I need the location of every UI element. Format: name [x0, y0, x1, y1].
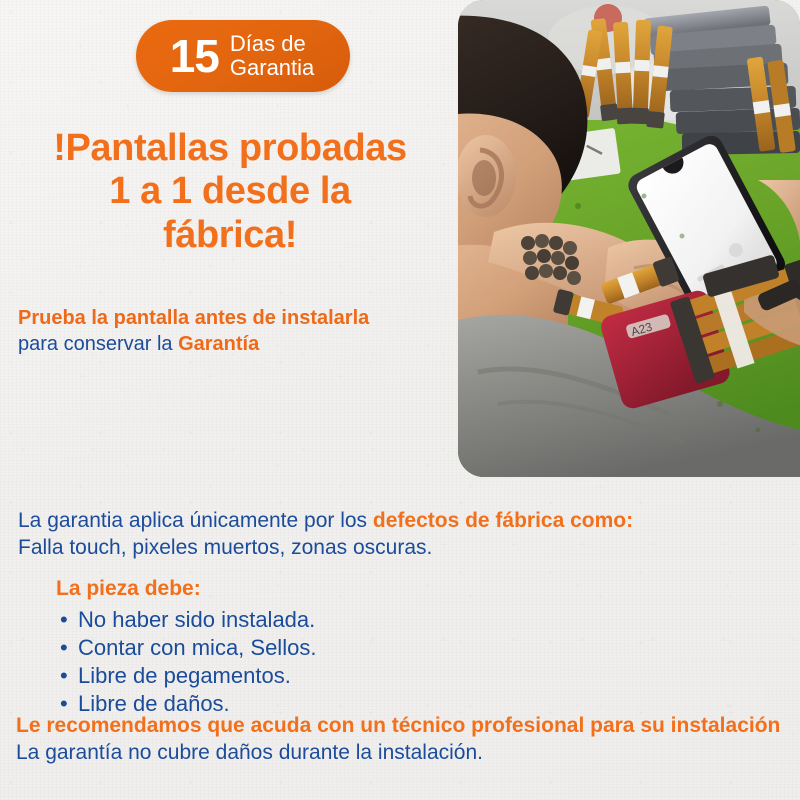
subtitle-line-2-emphasis: Garantía [178, 333, 259, 355]
intro-line-2: Falla touch, pixeles muertos, zonas oscu… [18, 535, 782, 562]
list-item: •Libre de pegamentos. [56, 662, 316, 690]
list-item: •Contar con mica, Sellos. [56, 634, 316, 662]
intro-line-1-prefix: La garantia aplica únicamente por los [18, 509, 373, 532]
bullet-icon: • [60, 606, 68, 634]
footer-recommendation: Le recomendamos que acuda con un técnico… [16, 714, 780, 737]
list-item-label: Libre de pegamentos. [78, 663, 291, 688]
warranty-scope-paragraph: La garantia aplica únicamente por los de… [18, 508, 782, 562]
requirements-title: La pieza debe: [56, 577, 201, 601]
badge-line-1: Días de [230, 32, 314, 56]
poster-root: 15 Días de Garantia [0, 0, 800, 800]
footer-tail: La garantía no cubre daños durante la in… [16, 741, 483, 764]
badge-text-stack: Días de Garantia [230, 32, 314, 80]
subtitle-block: Prueba la pantalla antes de instalarla p… [18, 305, 454, 358]
headline-line-3: fábrica! [8, 214, 452, 257]
list-item-label: No haber sido instalada. [78, 607, 315, 632]
subtitle-line-2-prefix: para conservar la [18, 333, 178, 355]
installation-disclaimer: Le recomendamos que acuda con un técnico… [16, 712, 788, 767]
badge-number: 15 [170, 33, 219, 79]
list-item: •No haber sido instalada. [56, 606, 316, 634]
subtitle-line-2: para conservar la Garantía [18, 331, 454, 357]
bullet-icon: • [60, 662, 68, 690]
requirements-list: •No haber sido instalada. •Contar con mi… [56, 606, 316, 718]
badge-line-2: Garantia [230, 56, 314, 80]
page-title: !Pantallas probadas 1 a 1 desde la fábri… [8, 127, 452, 257]
workshop-photo-illustration: A23 [458, 0, 800, 477]
list-item-label: Contar con mica, Sellos. [78, 635, 316, 660]
intro-line-1-emphasis: defectos de fábrica como: [373, 509, 633, 532]
workshop-photo: A23 [458, 0, 800, 477]
headline-line-1: !Pantallas probadas [8, 127, 452, 170]
headline-line-2: 1 a 1 desde la [8, 170, 452, 213]
warranty-days-badge: 15 Días de Garantia [136, 20, 350, 92]
bullet-icon: • [60, 634, 68, 662]
subtitle-line-1: Prueba la pantalla antes de instalarla [18, 305, 454, 331]
